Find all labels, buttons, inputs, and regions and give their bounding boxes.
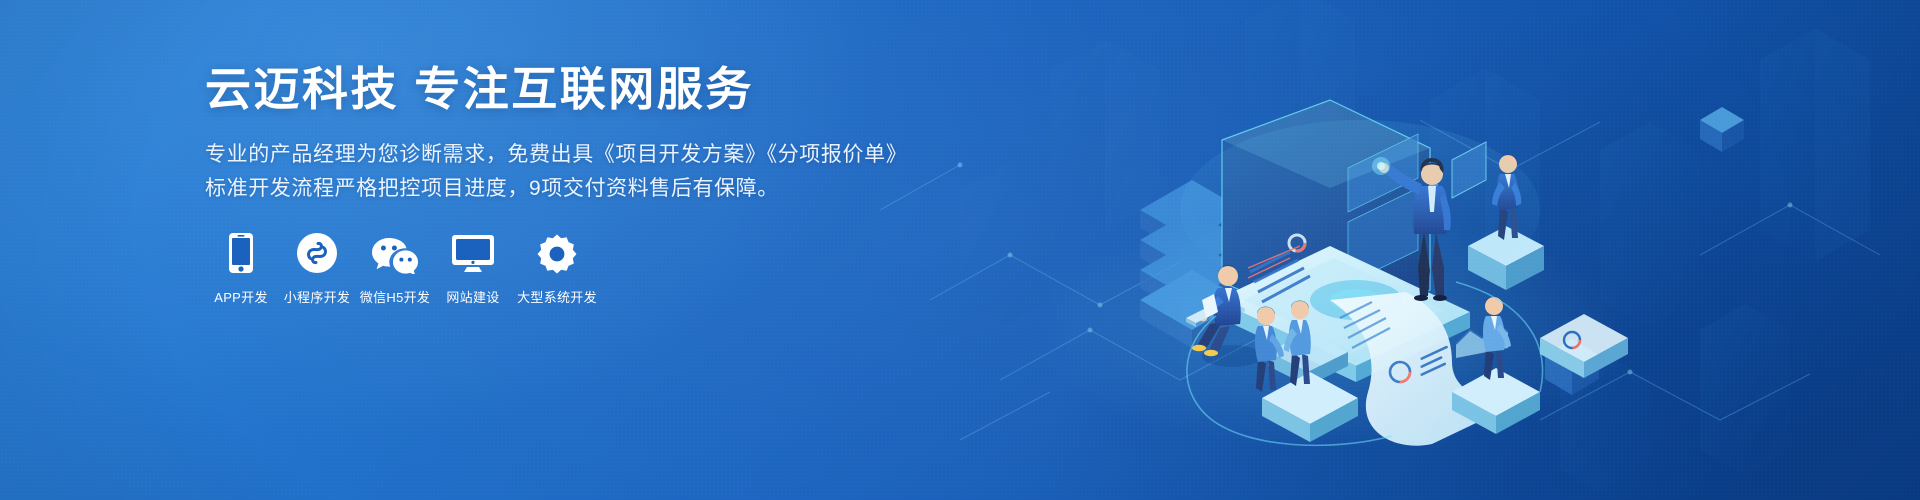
- bg-circuit-lines: [880, 120, 1880, 440]
- service-label: 网站建设: [446, 287, 499, 306]
- mini-chart-card: [1268, 0, 1348, 386]
- floating-cubes: [1385, 107, 1744, 395]
- motion-lines: [1250, 252, 1310, 302]
- service-label: 小程序开发: [284, 287, 351, 306]
- person-lower-right: [1452, 297, 1540, 434]
- mobile-phone-icon: [228, 228, 254, 274]
- floating-panel-upper: [1452, 0, 1486, 198]
- data-card-bottom: [1540, 0, 1628, 378]
- service-item-system[interactable]: 大型系统开发: [511, 228, 603, 306]
- main-illustration: [1030, 0, 1630, 450]
- service-item-website[interactable]: 网站建设: [435, 228, 511, 306]
- banner-subtitle: 专业的产品经理为您诊断需求，免费出具《项目开发方案》《分项报价单》 标准开发流程…: [205, 138, 965, 206]
- subtitle-line-2: 标准开发流程严格把控项目进度，9项交付资料售后有保障。: [205, 172, 965, 206]
- person-seated-laptop: [1186, 265, 1262, 367]
- banner-content: 云迈科技 专注互联网服务 专业的产品经理为您诊断需求，免费出具《项目开发方案》《…: [205, 62, 965, 206]
- tablet-platform: [1216, 246, 1470, 382]
- bg-iso-blocks: [960, 0, 1870, 496]
- subtitle-line-1: 专业的产品经理为您诊断需求，免费出具《项目开发方案》《分项报价单》: [205, 138, 965, 172]
- dashboard-screen: [1222, 0, 1430, 330]
- mini-program-icon: [296, 228, 338, 274]
- service-item-miniprogram[interactable]: 小程序开发: [279, 228, 355, 306]
- page-title: 云迈科技 专注互联网服务: [205, 62, 965, 116]
- connector-ribbon: [1187, 282, 1543, 445]
- person-on-cube-upper: [1468, 155, 1544, 290]
- service-label: 大型系统开发: [517, 287, 597, 306]
- service-label: 微信H5开发: [360, 287, 430, 306]
- service-icon-list: APP开发 小程序开发: [203, 228, 603, 306]
- service-item-app[interactable]: APP开发: [203, 228, 279, 306]
- monitor-icon: [451, 228, 495, 274]
- person-lower-left: [1255, 301, 1358, 442]
- hero-banner: 云迈科技 专注互联网服务 专业的产品经理为您诊断需求，免费出具《项目开发方案》《…: [0, 0, 1920, 500]
- bg-circuit-nodes: [958, 163, 1793, 375]
- service-label: APP开发: [214, 287, 268, 306]
- wechat-icon: [371, 228, 419, 274]
- person-presenter: [1372, 157, 1451, 301]
- server-stack-icon: [1140, 180, 1244, 348]
- service-item-wechat[interactable]: 微信H5开发: [355, 228, 435, 306]
- data-scroll: [1330, 292, 1520, 446]
- gear-icon: [537, 228, 577, 274]
